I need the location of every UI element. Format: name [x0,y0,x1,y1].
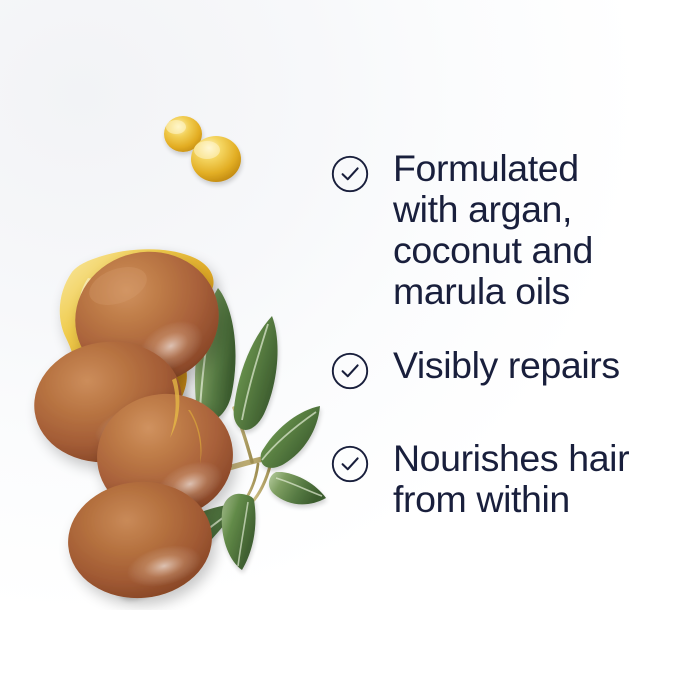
benefit-label: Nourishes hair from within [393,438,629,520]
benefit-label: Formulated with argan, coconut and marul… [393,148,593,312]
benefit-item: Formulated with argan, coconut and marul… [330,150,593,312]
product-benefits-panel: Formulated with argan, coconut and marul… [0,0,679,679]
check-circle-icon [330,444,370,484]
check-circle-icon [330,154,370,194]
benefit-item: Visibly repairs [330,347,620,391]
oil-droplet-large [191,136,241,182]
argan-oil-ingredients-photo [0,80,330,610]
check-circle-icon [330,351,370,391]
benefit-label: Visibly repairs [393,345,620,386]
benefit-item: Nourishes hair from within [330,440,629,520]
